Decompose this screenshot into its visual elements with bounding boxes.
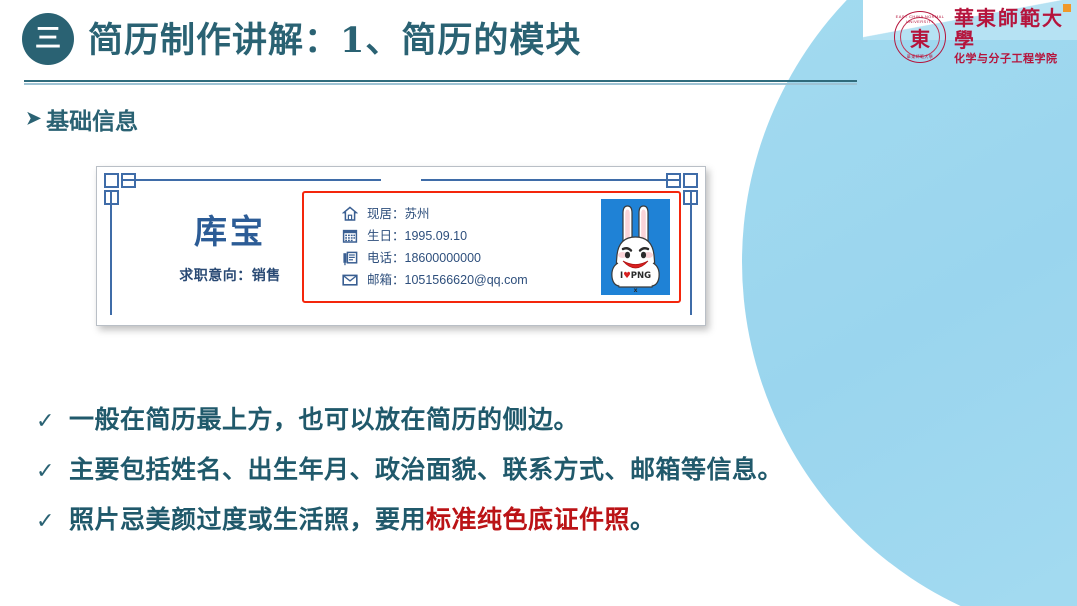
slide-canvas: 三 简历制作讲解：1、简历的模块 EAST CHINA NORMAL UNIVE… [0,0,1077,606]
title-divider-secondary [24,83,857,85]
job-objective: 求职意向：销售 [135,265,325,285]
check-icon: ✓ [36,409,55,434]
list-item: ✓ 照片忌美颜过度或生活照，要用标准纯色底证件照。 [36,500,996,536]
home-icon [341,206,358,223]
school-name: 化学与分子工程学院 [954,53,1073,66]
bullet-text-group: 照片忌美颜过度或生活照，要用标准纯色底证件照。 [69,500,656,536]
contact-text: 现居：苏州 [367,205,430,223]
logo-text-block: 華東師範大學 化学与分子工程学院 [954,7,1073,66]
envelope-icon [341,272,358,289]
svg-text:x: x [634,287,638,294]
list-item: 邮箱：1051566620@qq.com [341,271,528,289]
section-heading: ➤ 基础信息 [26,102,138,136]
check-icon: ✓ [36,509,55,534]
phone-icon [341,250,358,267]
bullet-text-before: 照片忌美颜过度或生活照，要用 [69,505,426,534]
list-item: ✓ 主要包括姓名、出生年月、政治面貌、联系方式、邮箱等信息。 [36,450,996,486]
university-name: 華東師範大學 [954,7,1073,51]
list-item: 电话：18600000000 [341,249,528,267]
section-heading-label: 基础信息 [46,102,138,136]
contact-text: 生日：1995.09.10 [367,227,467,245]
check-icon: ✓ [36,459,55,484]
rabbit-avatar-illustration: I♥PNG x [601,199,670,295]
list-item: 现居：苏州 [341,205,528,223]
section-number-badge: 三 [22,13,74,65]
arrow-right-icon: ➤ [26,110,41,128]
university-logo: EAST CHINA NORMAL UNIVERSITY 東 華東師範大學 華東… [893,6,1073,68]
list-item: 生日：1995.09.10 [341,227,528,245]
bullet-text: 主要包括姓名、出生年月、政治面貌、联系方式、邮箱等信息。 [69,450,783,486]
bullet-list: ✓ 一般在简历最上方，也可以放在简历的侧边。 ✓ 主要包括姓名、出生年月、政治面… [36,400,996,550]
university-seal-icon: EAST CHINA NORMAL UNIVERSITY 東 華東師範大學 [893,10,947,64]
list-item: ✓ 一般在简历最上方，也可以放在简历的侧边。 [36,400,996,436]
resume-identity-block: 库宝 求职意向：销售 [135,213,325,285]
candidate-photo: I♥PNG x [601,199,670,295]
bullet-text-highlight: 标准纯色底证件照 [426,505,630,534]
resume-sample-card: 库宝 求职意向：销售 现居：苏州 [96,166,706,326]
contact-text: 电话：18600000000 [367,249,481,267]
contact-info-list: 现居：苏州 [341,205,528,290]
bullet-text-after: 。 [630,505,656,534]
title-divider [24,80,857,82]
svg-text:I♥PNG: I♥PNG [620,271,651,281]
candidate-name: 库宝 [135,213,325,251]
bullet-text: 一般在简历最上方，也可以放在简历的侧边。 [69,400,579,436]
contact-text: 邮箱：1051566620@qq.com [367,271,528,289]
page-title: 简历制作讲解：1、简历的模块 [88,12,581,63]
calendar-icon [341,228,358,245]
seal-arc-bottom-text: 華東師範大學 [893,54,947,60]
